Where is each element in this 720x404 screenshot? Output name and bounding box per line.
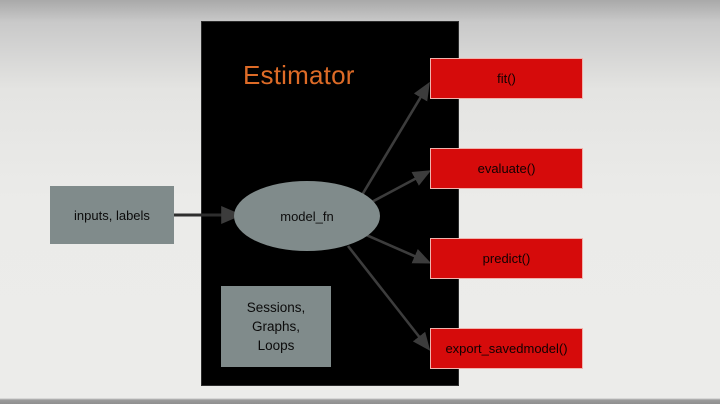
model-fn-node[interactable]: model_fn — [234, 181, 380, 251]
method-box-export-savedmodel[interactable]: export_savedmodel() — [430, 328, 583, 369]
method-box-predict[interactable]: predict() — [430, 238, 583, 279]
sessions-graphs-loops-node[interactable]: Sessions, Graphs, Loops — [221, 286, 331, 367]
method-box-fit[interactable]: fit() — [430, 58, 583, 99]
inputs-labels-node[interactable]: inputs, labels — [50, 186, 174, 244]
method-label-fit: fit() — [497, 71, 516, 86]
model-fn-label: model_fn — [280, 209, 333, 224]
page-title: Estimator — [243, 60, 443, 91]
method-label-predict: predict() — [483, 251, 531, 266]
method-box-evaluate[interactable]: evaluate() — [430, 148, 583, 189]
diagram-canvas: Estimator inputs, labels model_fn Sessio… — [0, 0, 720, 404]
runtime-line-1: Sessions, — [247, 298, 306, 317]
runtime-line-3: Loops — [247, 336, 306, 355]
method-label-export-savedmodel: export_savedmodel() — [445, 341, 567, 356]
method-label-evaluate: evaluate() — [478, 161, 536, 176]
runtime-line-2: Graphs, — [247, 317, 306, 336]
inputs-labels-label: inputs, labels — [74, 207, 150, 224]
